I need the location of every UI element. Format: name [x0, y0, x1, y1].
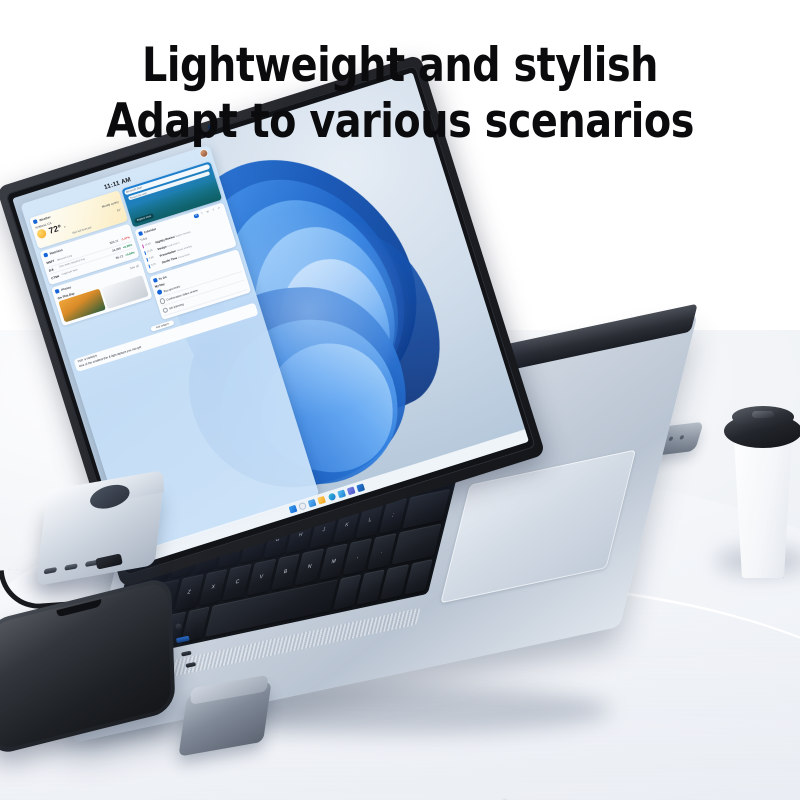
- event-time: 3:15: [151, 262, 161, 269]
- event-title: Studio Time: [161, 256, 177, 265]
- stock-symbol: CTSH: [51, 274, 61, 281]
- coffee-cup: [724, 398, 800, 578]
- todo-checkbox[interactable]: [156, 289, 163, 296]
- calendar-day[interactable]: T: [211, 208, 217, 214]
- outlook-icon[interactable]: [356, 483, 365, 492]
- todo-checkbox[interactable]: [162, 307, 169, 314]
- calendar-day[interactable]: T: [199, 211, 205, 217]
- sun-icon: [36, 228, 47, 239]
- cup-lid-tab: [752, 411, 774, 418]
- headphone-jack-icon: [175, 623, 182, 630]
- search-icon[interactable]: [298, 502, 307, 511]
- todo-text: Ski planning: [169, 302, 185, 310]
- usb-a-port-icon: [176, 636, 190, 644]
- usb-c-port-icon: [185, 662, 196, 668]
- weather-icon: [33, 219, 38, 224]
- calendar-day[interactable]: W: [205, 210, 211, 216]
- todo-icon: [152, 278, 157, 283]
- calendar-day[interactable]: F: [217, 206, 223, 212]
- calendar-day[interactable]: M: [194, 213, 200, 219]
- photos-icon: [55, 289, 60, 294]
- usb-c-port-icon: [181, 651, 192, 657]
- watchlist-icon: [44, 253, 49, 258]
- cup-body: [728, 432, 798, 578]
- store-icon[interactable]: [337, 490, 346, 499]
- event-sub: Focus block: [178, 254, 190, 260]
- scene: esc ~12 3456 7890 -= QW ERTY UIOP []: [0, 0, 800, 800]
- teams-icon[interactable]: [347, 486, 356, 495]
- widgets-icon[interactable]: [308, 499, 317, 508]
- stock-price: 86.12: [114, 254, 124, 261]
- file-explorer-icon[interactable]: [318, 496, 327, 505]
- calendar-icon: [138, 231, 143, 236]
- weather-high-low: 81°: [116, 207, 121, 212]
- stock-change: +0.34%: [124, 250, 135, 257]
- todo-checkbox[interactable]: [159, 298, 166, 305]
- photos-see-all[interactable]: See all: [129, 264, 139, 271]
- todo-app-name: To Do: [158, 275, 167, 281]
- start-icon[interactable]: [288, 505, 297, 514]
- edge-icon[interactable]: [327, 493, 336, 502]
- webcam-icon: [207, 124, 213, 130]
- weather-unit: F: [64, 224, 67, 228]
